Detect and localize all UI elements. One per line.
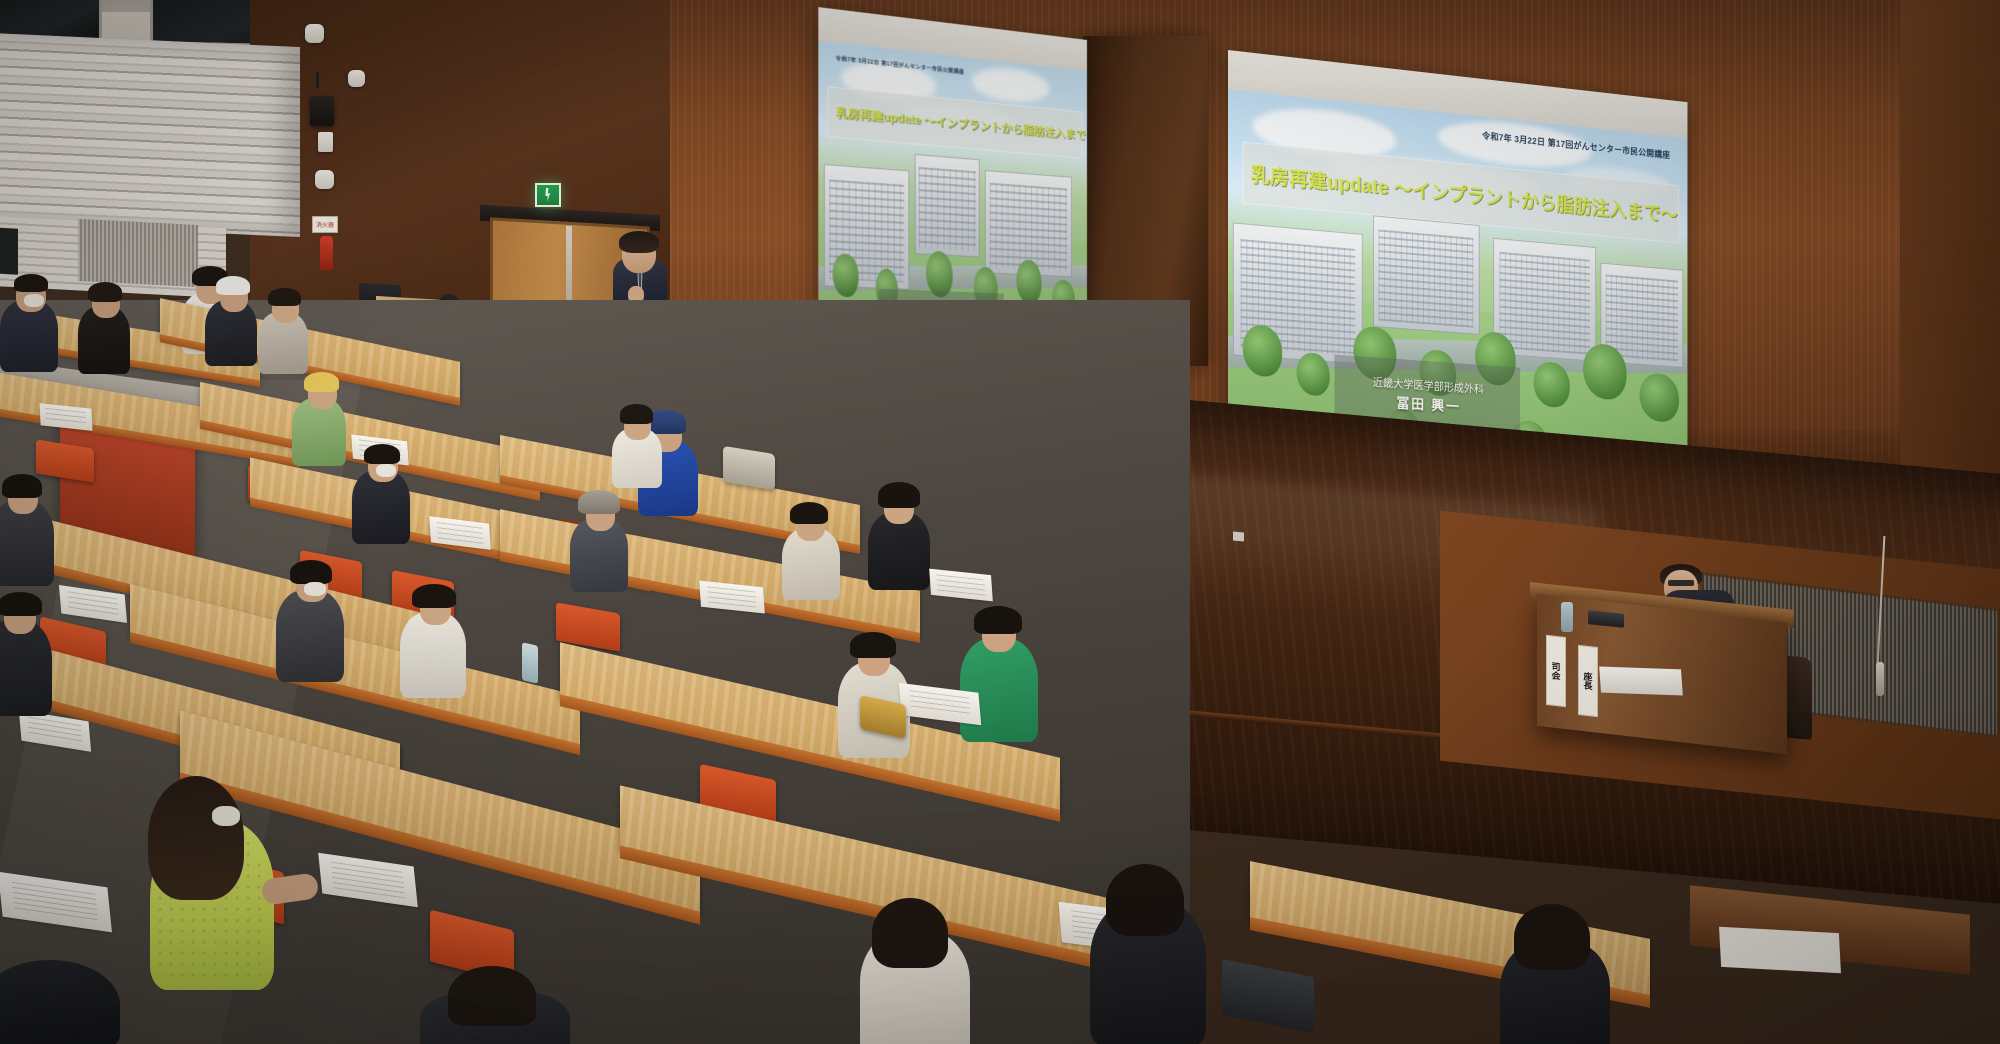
person-torso xyxy=(276,590,344,682)
person-hat xyxy=(578,490,620,514)
person-hair xyxy=(14,274,48,292)
pull-cord-weight[interactable] xyxy=(1876,662,1884,696)
person-hair xyxy=(364,444,400,464)
person-hair xyxy=(412,584,456,608)
slide-building xyxy=(1373,215,1480,334)
wall-outlet-icon xyxy=(1233,532,1244,542)
wall-vent-grille xyxy=(78,219,198,287)
person-hair xyxy=(1514,904,1590,970)
person-torso xyxy=(960,638,1038,742)
person-hair xyxy=(0,592,42,616)
acoustic-ribbed-wall xyxy=(0,33,300,237)
glasses-icon xyxy=(1668,580,1694,586)
speaker-plate-icon xyxy=(315,170,334,189)
face-mask-icon xyxy=(24,294,44,307)
person-hair xyxy=(872,898,948,968)
face-mask-icon xyxy=(376,464,396,477)
laptop[interactable] xyxy=(1222,959,1314,1033)
person-hair xyxy=(88,282,122,302)
dais-placard-right: 座長 xyxy=(1578,645,1598,717)
fire-extinguisher xyxy=(320,236,333,270)
wall-speaker-icon xyxy=(310,96,334,126)
person-hair xyxy=(448,966,536,1026)
dais-placard-left: 司会 xyxy=(1546,635,1566,707)
person-hair xyxy=(1106,864,1184,936)
person-hair xyxy=(216,276,250,295)
person-hair xyxy=(620,404,653,424)
person-hair xyxy=(974,606,1022,634)
person-hat xyxy=(304,372,339,392)
bench-paper xyxy=(1719,927,1841,973)
smoke-detector-icon xyxy=(305,24,324,43)
person-hair xyxy=(148,776,244,900)
camera-mount-arm xyxy=(316,72,319,88)
face-mask-icon xyxy=(304,582,326,596)
person-hair xyxy=(850,632,896,658)
face-mask-icon xyxy=(212,806,240,826)
moderator-papers xyxy=(1599,666,1683,695)
exit-sign xyxy=(535,183,561,207)
person-hair xyxy=(790,502,828,524)
wall-plate-icon xyxy=(318,132,333,152)
slide-building xyxy=(915,154,980,257)
left-slide-title: 乳房再建update ～インプラントから脂肪注入まで～ xyxy=(836,104,1087,145)
person-torso xyxy=(0,620,52,716)
lower-window-dark xyxy=(0,227,18,274)
lecture-hall-photo: 消火器 令和7年 3月22日 第17回がんセンター市民公開講座 乳房再建upda… xyxy=(0,0,2000,1044)
water-bottle xyxy=(1561,602,1573,632)
right-slide-presenter: 冨田 興一 xyxy=(1396,393,1460,417)
person-hair xyxy=(878,482,920,508)
person-hair xyxy=(290,560,332,584)
person-hair xyxy=(2,474,42,498)
sensor-icon xyxy=(348,70,365,87)
speaker-hair xyxy=(619,231,659,253)
exit-running-person-icon xyxy=(543,188,553,202)
fire-extinguisher-sign-label: 消火器 xyxy=(316,220,334,229)
drink-bottle xyxy=(522,642,538,683)
person-hair xyxy=(268,288,301,306)
fire-extinguisher-sign: 消火器 xyxy=(312,216,338,233)
